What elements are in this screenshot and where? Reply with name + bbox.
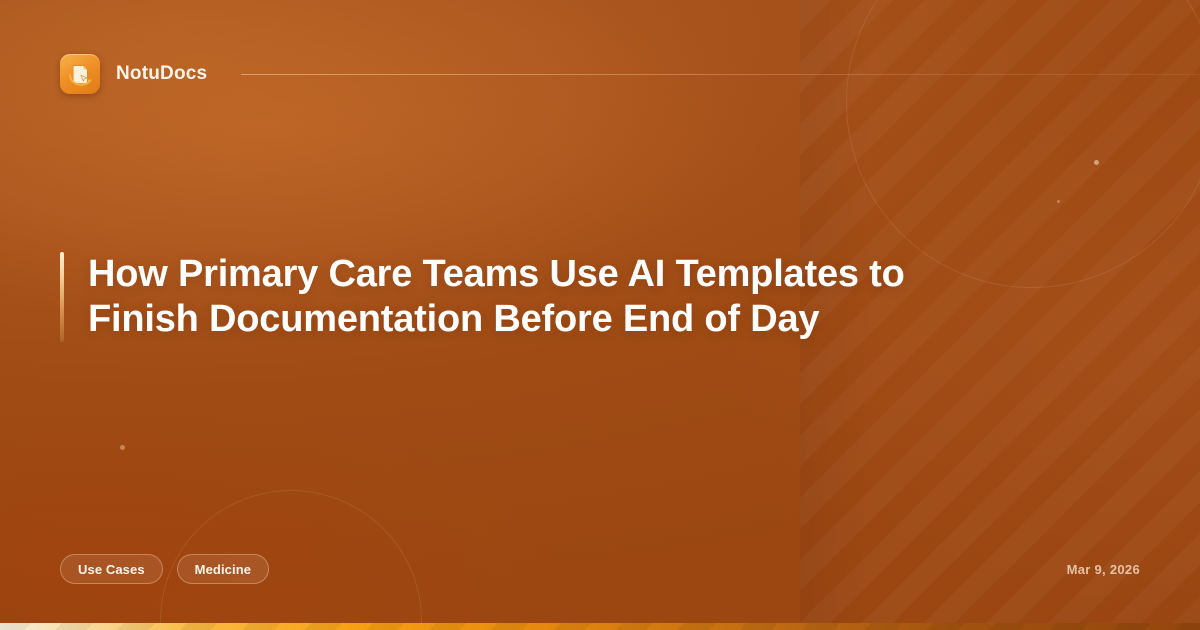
tag-list: Use Cases Medicine xyxy=(60,554,269,584)
decorative-dot xyxy=(120,445,125,450)
title-accent-bar xyxy=(60,252,64,342)
page-title: How Primary Care Teams Use AI Templates … xyxy=(88,252,988,342)
header-divider xyxy=(241,74,1200,75)
card-header: NotuDocs xyxy=(60,54,1200,94)
card-footer: Use Cases Medicine Mar 9, 2026 xyxy=(60,554,1140,584)
og-social-card: NotuDocs How Primary Care Teams Use AI T… xyxy=(0,0,1200,630)
title-block: How Primary Care Teams Use AI Templates … xyxy=(60,252,1020,342)
brand-name: NotuDocs xyxy=(116,63,207,85)
decorative-dot xyxy=(1057,200,1060,203)
bottom-accent-bar xyxy=(0,623,1200,630)
document-cursor-icon[interactable] xyxy=(60,54,100,94)
decorative-dot xyxy=(1094,160,1099,165)
tag-medicine[interactable]: Medicine xyxy=(177,554,269,584)
publish-date: Mar 9, 2026 xyxy=(1067,562,1140,577)
tag-use-cases[interactable]: Use Cases xyxy=(60,554,163,584)
